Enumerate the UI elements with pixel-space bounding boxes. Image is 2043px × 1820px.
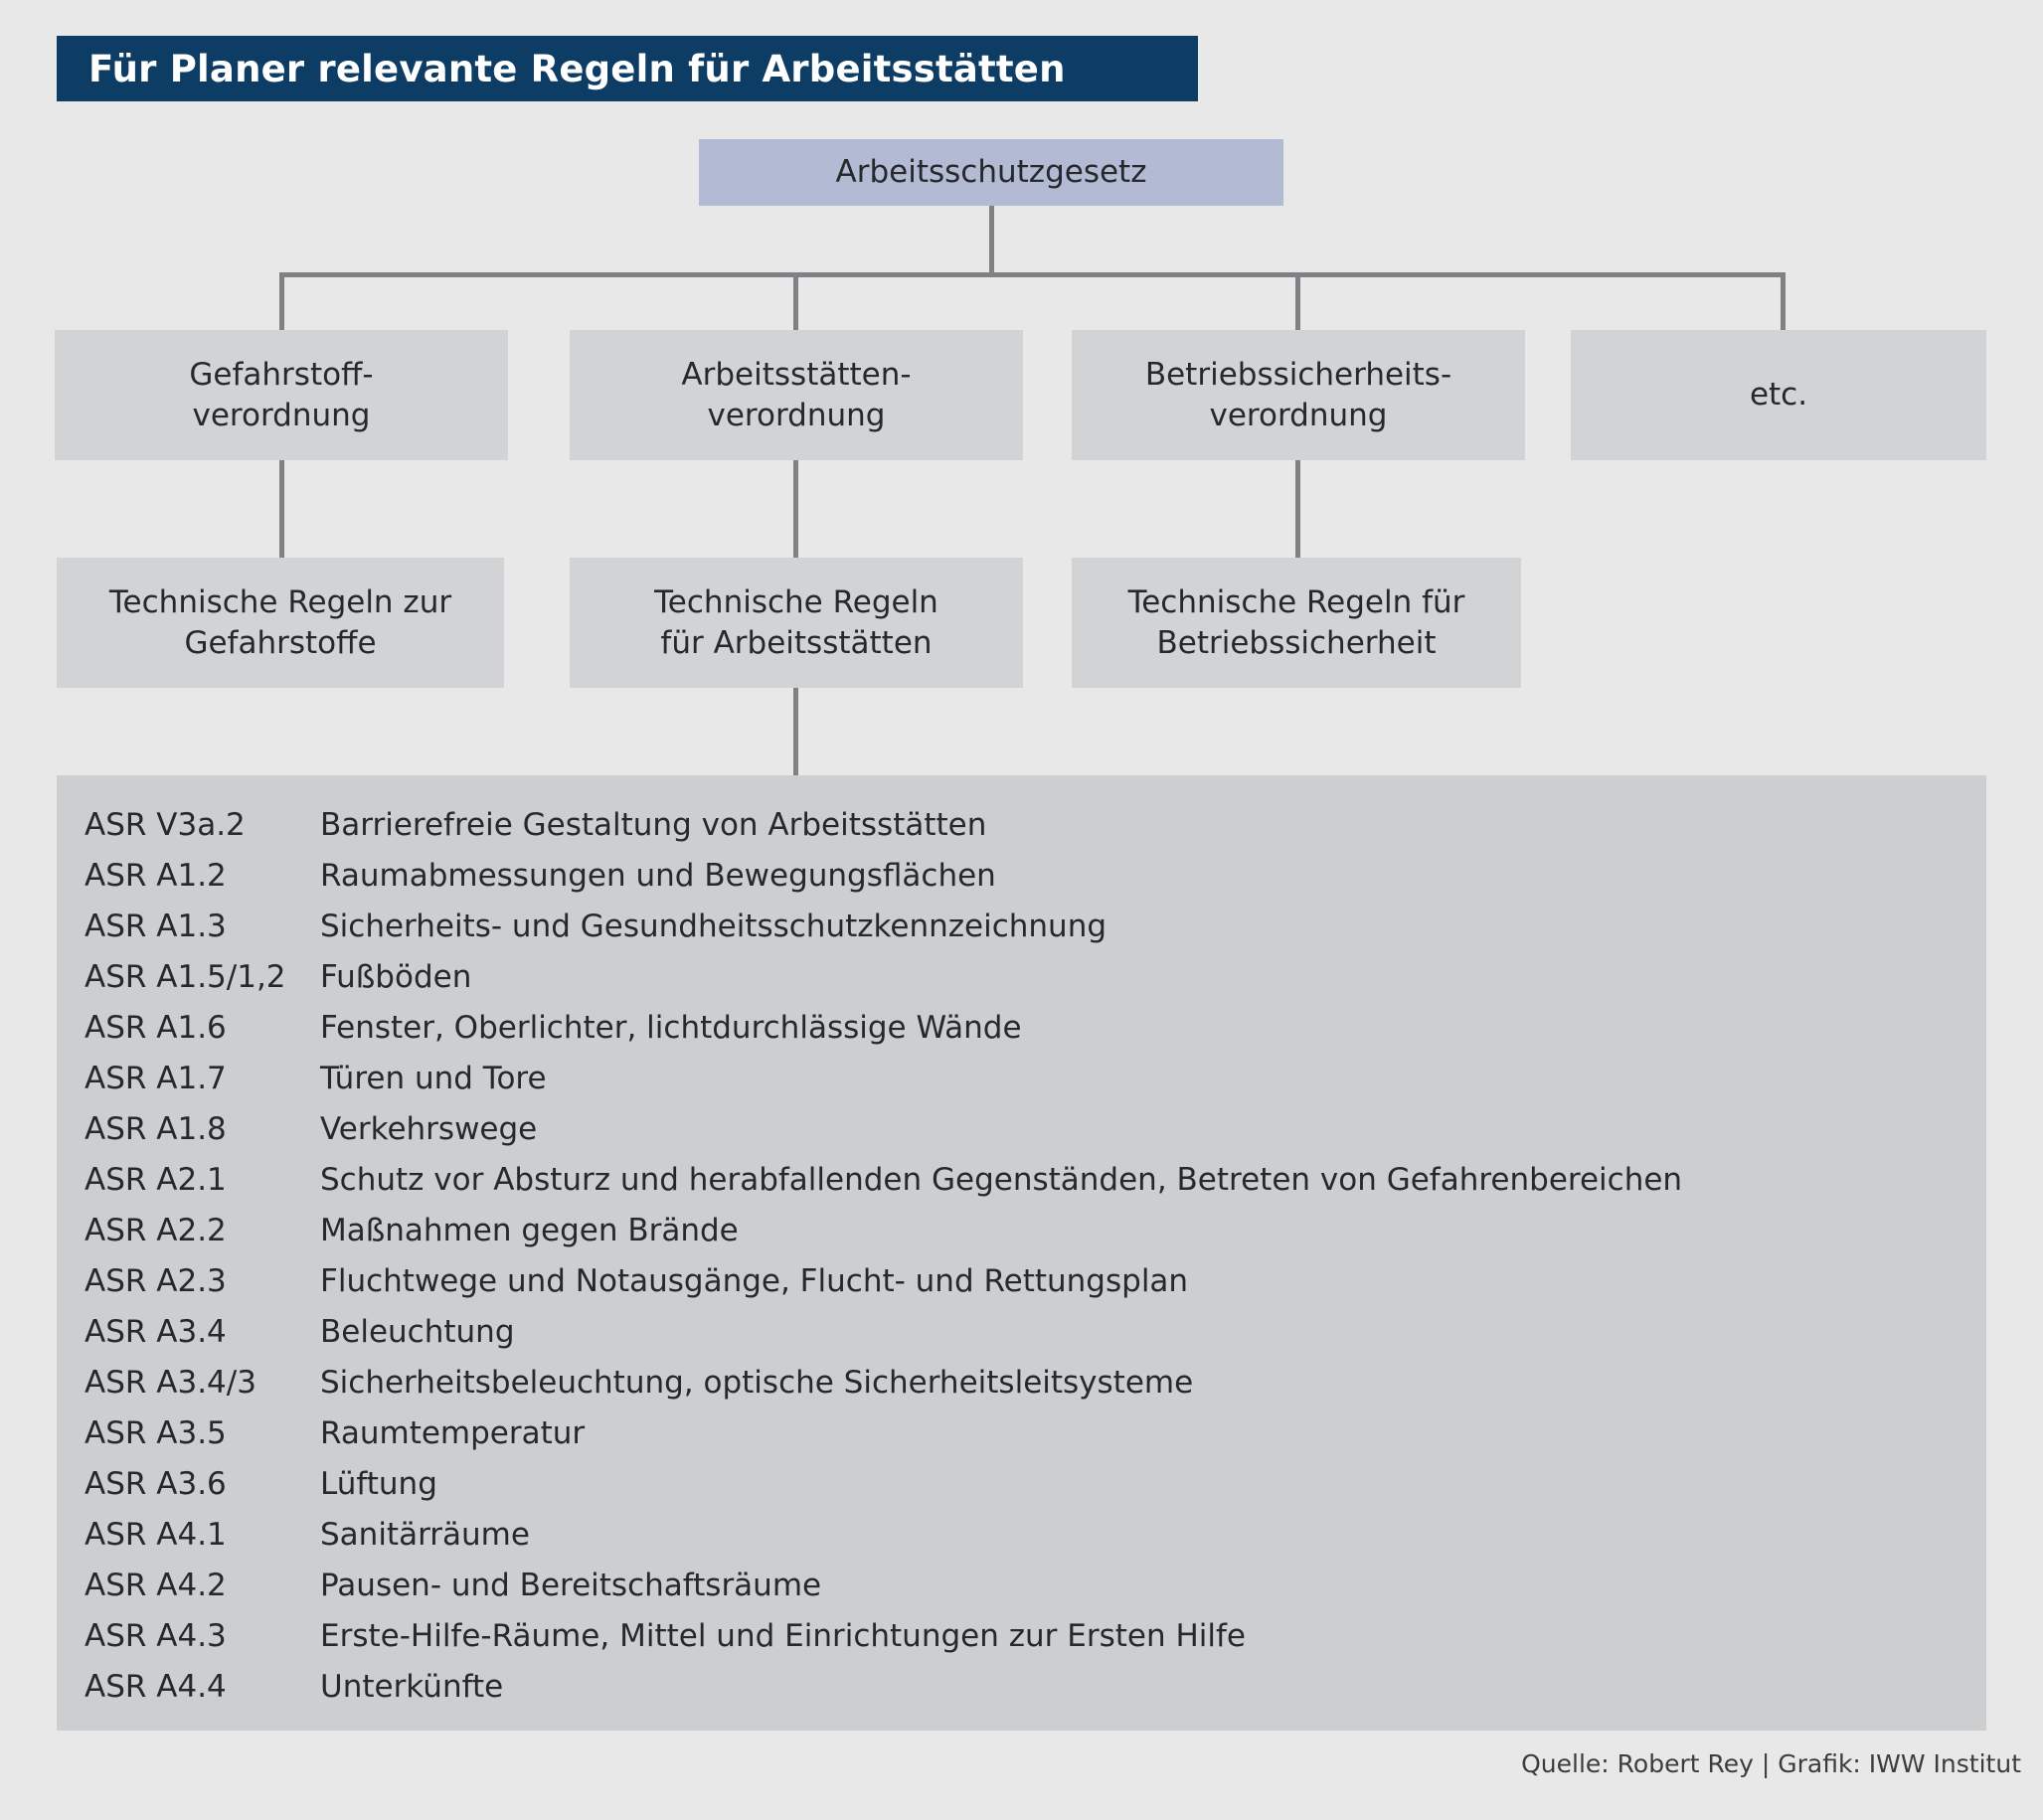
node-technische-regeln-arbeitsstaetten[interactable]: Technische Regeln für Arbeitsstätten — [570, 558, 1023, 688]
asr-list-item: ASR A3.5Raumtemperatur — [85, 1415, 1976, 1466]
node-gefahrstoffverordnung-line1: Gefahrstoff- — [189, 355, 373, 395]
asr-list: ASR V3a.2Barrierefreie Gestaltung von Ar… — [85, 807, 1976, 1720]
asr-list-panel: ASR V3a.2Barrierefreie Gestaltung von Ar… — [57, 775, 1986, 1731]
asr-code: ASR A2.3 — [85, 1263, 320, 1299]
node-trbs-line1: Technische Regeln für — [1128, 582, 1465, 622]
connector-asta-to-asr-panel — [793, 688, 798, 777]
connector-drop-arbeitsstaettenverordnung — [793, 272, 798, 332]
asr-title: Schutz vor Absturz und herabfallenden Ge… — [320, 1162, 1976, 1198]
asr-code: ASR A4.4 — [85, 1669, 320, 1705]
asr-list-item: ASR A3.4/3Sicherheitsbeleuchtung, optisc… — [85, 1365, 1976, 1415]
asr-code: ASR A2.2 — [85, 1213, 320, 1248]
connector-betriebssicherheitsverordnung-to-trbs — [1295, 460, 1300, 560]
asr-title: Fluchtwege und Notausgänge, Flucht- und … — [320, 1263, 1976, 1299]
asr-list-item: ASR A3.4Beleuchtung — [85, 1314, 1976, 1365]
asr-list-item: ASR A4.1Sanitärräume — [85, 1517, 1976, 1568]
asr-code: ASR A4.3 — [85, 1618, 320, 1654]
asr-list-item: ASR A4.4Unterkünfte — [85, 1669, 1976, 1720]
asr-title: Erste-Hilfe-Räume, Mittel und Einrichtun… — [320, 1618, 1976, 1654]
node-betriebssicherheitsverordnung-line2: verordnung — [1145, 396, 1451, 435]
asr-title: Türen und Tore — [320, 1061, 1976, 1096]
asr-title: Fußböden — [320, 959, 1976, 995]
node-trgs-line1: Technische Regeln zur — [109, 582, 451, 622]
asr-list-item: ASR A3.6Lüftung — [85, 1466, 1976, 1517]
asr-list-item: ASR A2.1Schutz vor Absturz und herabfall… — [85, 1162, 1976, 1213]
node-gefahrstoffverordnung-line2: verordnung — [189, 396, 373, 435]
node-arbeitsstaettenverordnung-line2: verordnung — [681, 396, 911, 435]
asr-code: ASR A1.6 — [85, 1010, 320, 1046]
asr-code: ASR A1.3 — [85, 909, 320, 944]
asr-title: Verkehrswege — [320, 1111, 1976, 1147]
title-banner: Für Planer relevante Regeln für Arbeitss… — [57, 36, 1198, 101]
asr-list-item: ASR A4.3Erste-Hilfe-Räume, Mittel und Ei… — [85, 1618, 1976, 1669]
node-etc-label: etc. — [1750, 375, 1807, 414]
asr-code: ASR A3.6 — [85, 1466, 320, 1502]
connector-root-stem — [989, 206, 994, 276]
connector-arbeitsstaettenverordnung-to-asta — [793, 460, 798, 560]
asr-title: Barrierefreie Gestaltung von Arbeitsstät… — [320, 807, 1976, 843]
asr-code: ASR A1.2 — [85, 858, 320, 894]
asr-list-item: ASR A1.7Türen und Tore — [85, 1061, 1976, 1111]
node-gefahrstoffverordnung[interactable]: Gefahrstoff- verordnung — [55, 330, 508, 460]
connector-drop-betriebssicherheitsverordnung — [1295, 272, 1300, 332]
asr-code: ASR V3a.2 — [85, 807, 320, 843]
node-technische-regeln-gefahrstoffe[interactable]: Technische Regeln zur Gefahrstoffe — [57, 558, 504, 688]
asr-list-item: ASR A1.5/1,2Fußböden — [85, 959, 1976, 1010]
asr-title: Maßnahmen gegen Brände — [320, 1213, 1976, 1248]
node-betriebssicherheitsverordnung[interactable]: Betriebssicherheits- verordnung — [1072, 330, 1525, 460]
node-asta-line1: Technische Regeln — [654, 582, 938, 622]
asr-title: Raumabmessungen und Bewegungsflächen — [320, 858, 1976, 894]
connector-drop-etc — [1781, 272, 1786, 332]
asr-code: ASR A1.5/1,2 — [85, 959, 320, 995]
asr-list-item: ASR A1.6Fenster, Oberlichter, lichtdurch… — [85, 1010, 1976, 1061]
node-arbeitsstaettenverordnung-line1: Arbeitsstätten- — [681, 355, 911, 395]
asr-title: Raumtemperatur — [320, 1415, 1976, 1451]
asr-title: Beleuchtung — [320, 1314, 1976, 1350]
node-trbs-line2: Betriebssicherheit — [1128, 623, 1465, 663]
asr-code: ASR A1.8 — [85, 1111, 320, 1147]
asr-list-item: ASR A1.8Verkehrswege — [85, 1111, 1976, 1162]
asr-title: Sanitärräume — [320, 1517, 1976, 1553]
node-etc[interactable]: etc. — [1571, 330, 1986, 460]
asr-title: Unterkünfte — [320, 1669, 1976, 1705]
asr-list-item: ASR A2.3Fluchtwege und Notausgänge, Fluc… — [85, 1263, 1976, 1314]
asr-title: Fenster, Oberlichter, lichtdurchlässige … — [320, 1010, 1976, 1046]
asr-code: ASR A4.2 — [85, 1568, 320, 1603]
node-arbeitsstaettenverordnung[interactable]: Arbeitsstätten- verordnung — [570, 330, 1023, 460]
asr-code: ASR A2.1 — [85, 1162, 320, 1198]
asr-code: ASR A1.7 — [85, 1061, 320, 1096]
connector-drop-gefahrstoffverordnung — [279, 272, 284, 332]
asr-list-item: ASR A1.2Raumabmessungen und Bewegungsflä… — [85, 858, 1976, 909]
asr-list-item: ASR A1.3Sicherheits- und Gesundheitsschu… — [85, 909, 1976, 959]
connector-horizontal-bus — [279, 272, 1786, 277]
node-asta-line2: für Arbeitsstätten — [654, 623, 938, 663]
source-credit: Quelle: Robert Rey | Grafik: IWW Institu… — [1521, 1749, 2021, 1778]
asr-code: ASR A3.4/3 — [85, 1365, 320, 1401]
asr-title: Sicherheitsbeleuchtung, optische Sicherh… — [320, 1365, 1976, 1401]
node-betriebssicherheitsverordnung-line1: Betriebssicherheits- — [1145, 355, 1451, 395]
asr-title: Sicherheits- und Gesundheitsschutzkennze… — [320, 909, 1976, 944]
asr-list-item: ASR V3a.2Barrierefreie Gestaltung von Ar… — [85, 807, 1976, 858]
asr-code: ASR A3.4 — [85, 1314, 320, 1350]
node-trgs-line2: Gefahrstoffe — [109, 623, 451, 663]
asr-list-item: ASR A4.2Pausen- und Bereitschaftsräume — [85, 1568, 1976, 1618]
node-technische-regeln-betriebssicherheit[interactable]: Technische Regeln für Betriebssicherheit — [1072, 558, 1521, 688]
connector-gefahrstoffverordnung-to-trgs — [279, 460, 284, 560]
asr-title: Lüftung — [320, 1466, 1976, 1502]
asr-code: ASR A3.5 — [85, 1415, 320, 1451]
asr-list-item: ASR A2.2Maßnahmen gegen Brände — [85, 1213, 1976, 1263]
node-arbeitsschutzgesetz-label: Arbeitsschutzgesetz — [836, 152, 1147, 192]
asr-title: Pausen- und Bereitschaftsräume — [320, 1568, 1976, 1603]
page-title: Für Planer relevante Regeln für Arbeitss… — [57, 48, 1066, 90]
node-arbeitsschutzgesetz[interactable]: Arbeitsschutzgesetz — [699, 139, 1283, 206]
asr-code: ASR A4.1 — [85, 1517, 320, 1553]
